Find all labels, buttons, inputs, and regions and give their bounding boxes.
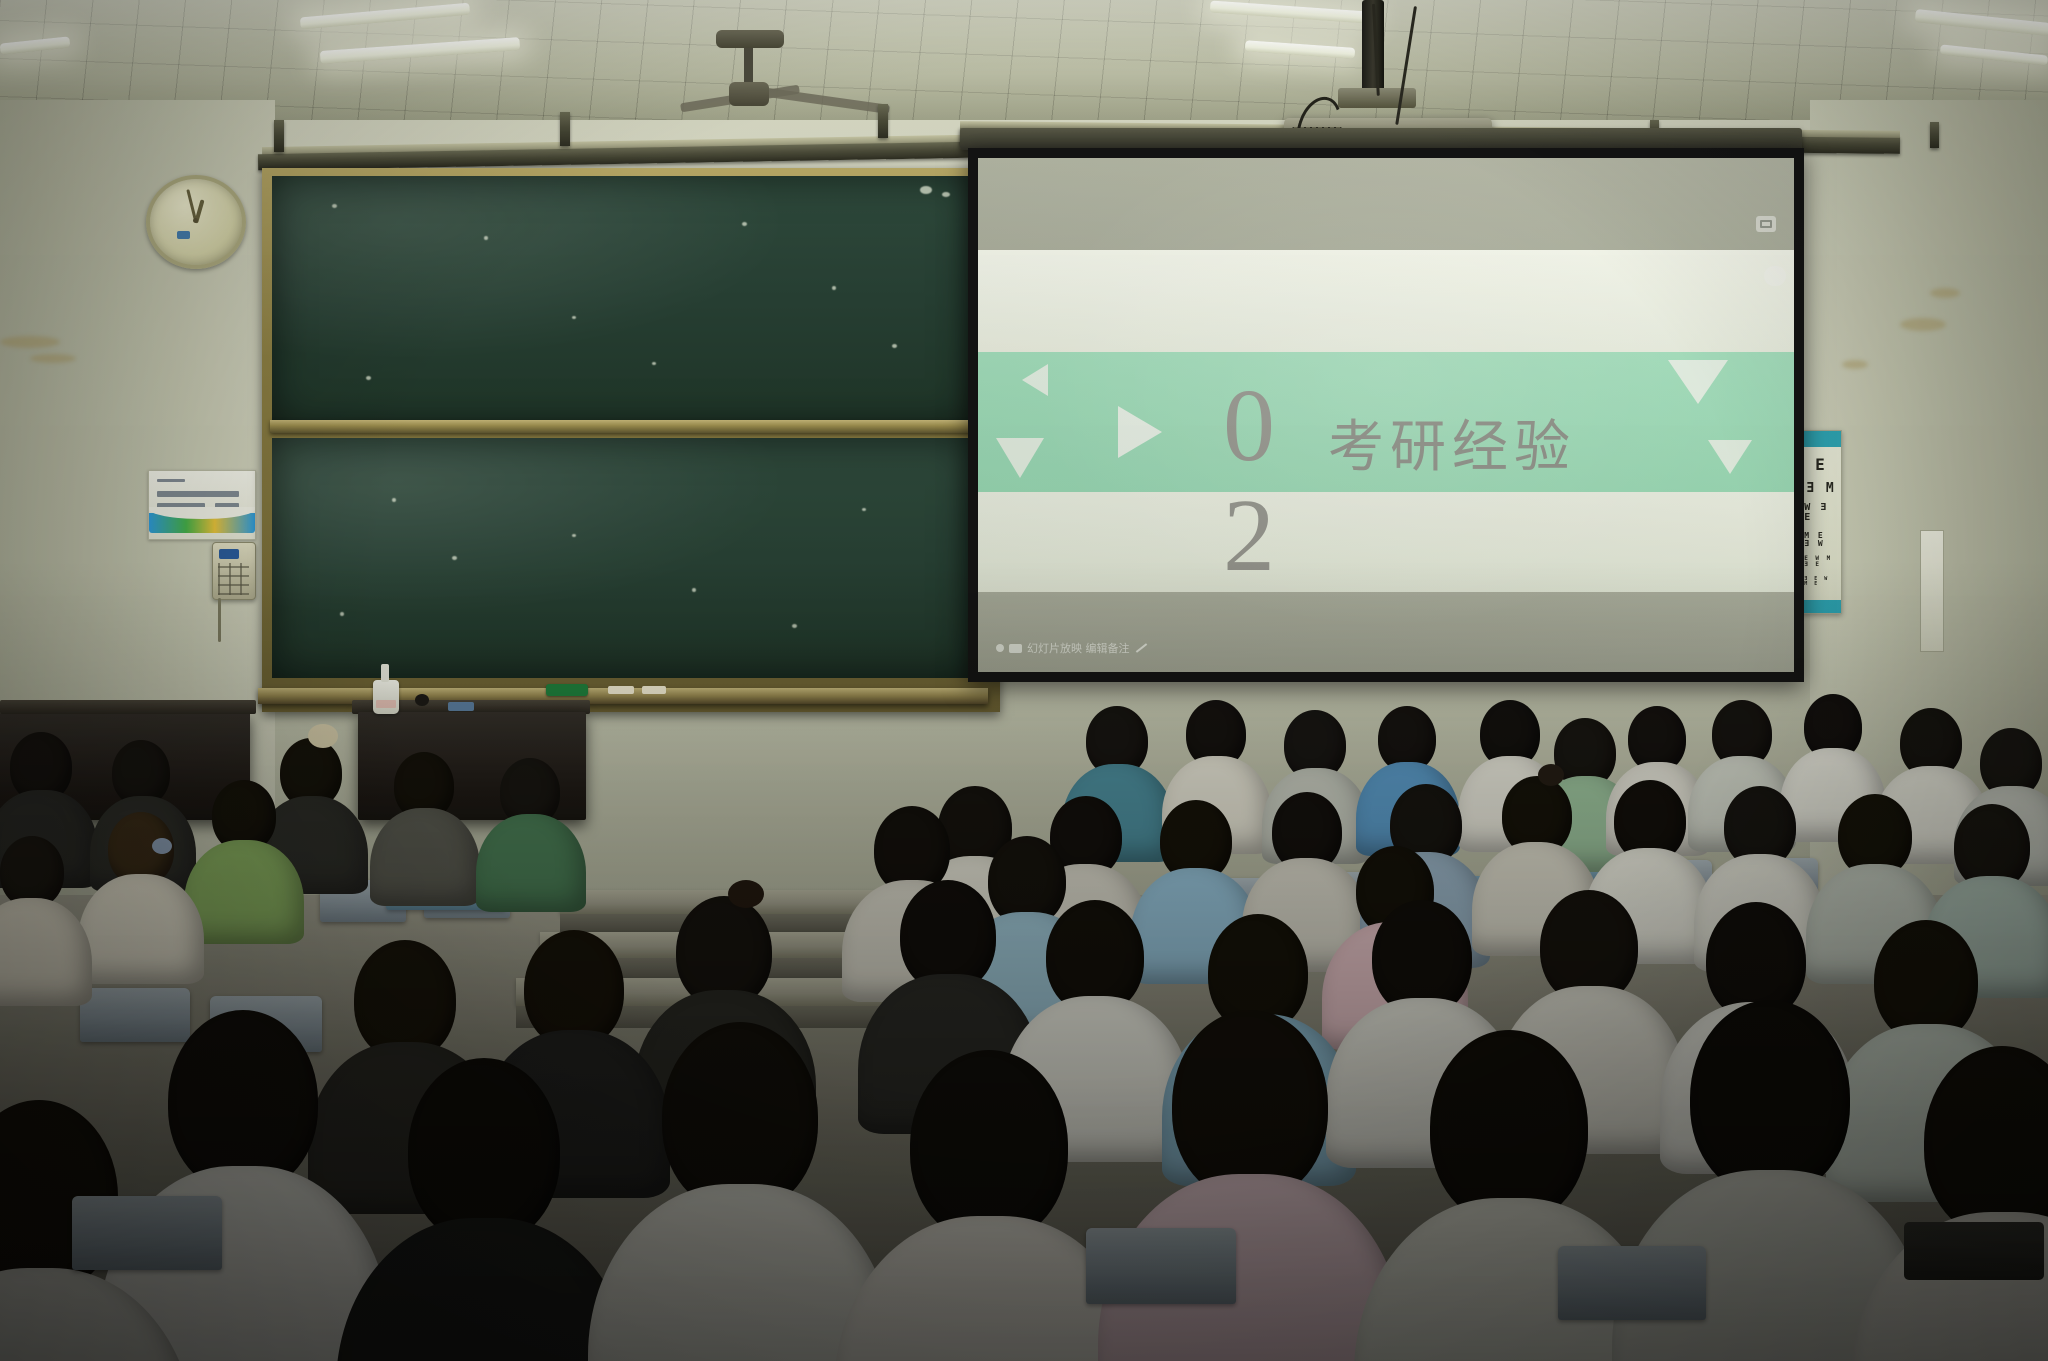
eye-chart-rows: E Ǝ M W Ǝ E M E Ǝ W E W M Ǝ E Ǝ E W M E xyxy=(1804,453,1838,591)
seat[interactable] xyxy=(80,988,190,1042)
phone-display xyxy=(219,549,239,559)
head xyxy=(1430,1030,1588,1224)
hair-bun xyxy=(728,880,764,908)
pen-icon[interactable] xyxy=(1135,643,1146,653)
eye-chart-row: W Ǝ E xyxy=(1804,503,1838,523)
triangle-left-icon xyxy=(1022,364,1048,396)
chalk-stick[interactable] xyxy=(642,686,666,694)
sanitizer-label xyxy=(376,700,397,708)
chalk-mark xyxy=(340,612,344,616)
clock-center-pin xyxy=(193,218,198,223)
torso xyxy=(78,874,204,984)
triangle-down-left-icon xyxy=(996,438,1044,478)
chalk-mark xyxy=(742,222,747,226)
hand-sanitizer-bottle[interactable] xyxy=(373,680,399,714)
slide-band-upper-white xyxy=(978,250,1794,352)
projection-screen-frame: 0 2 考研经验 幻灯片放映 编辑备注 xyxy=(968,148,1804,682)
projection-screen-surface: 0 2 考研经验 幻灯片放映 编辑备注 xyxy=(978,158,1794,672)
notice-line-1 xyxy=(157,479,185,482)
slide-footer-bar: 幻灯片放映 编辑备注 xyxy=(996,640,1148,656)
clock-logo xyxy=(177,231,190,239)
hair-bun xyxy=(1538,764,1564,786)
sanitizer-pump[interactable] xyxy=(381,664,389,682)
wall-telephone[interactable] xyxy=(212,542,256,600)
chalk-mark xyxy=(572,316,576,319)
eye-chart-row: Ǝ M xyxy=(1806,482,1835,495)
chalkboard-panel-upper xyxy=(272,176,972,426)
chalk-mark xyxy=(392,498,396,502)
chalk-mark xyxy=(332,204,337,208)
phone-keypad[interactable] xyxy=(218,563,249,594)
chalk-mark xyxy=(452,556,457,560)
lecture-hall-scene: E Ǝ M W Ǝ E M E Ǝ W E W M Ǝ E Ǝ E W M E xyxy=(0,0,2048,1361)
wall-stain-1 xyxy=(0,336,60,348)
phone-cord xyxy=(218,598,221,642)
eye-chart-row: E xyxy=(1815,457,1827,473)
blackboard-eraser[interactable] xyxy=(546,684,588,696)
wall-poster-right xyxy=(1920,530,1944,652)
eye-chart-header-band xyxy=(1801,431,1841,447)
chalk-mark xyxy=(484,236,488,240)
eye-chart-row: E W M Ǝ E xyxy=(1804,556,1838,568)
head xyxy=(910,1050,1068,1242)
eye-chart-poster: E Ǝ M W Ǝ E M E Ǝ W E W M Ǝ E Ǝ E W M E xyxy=(1800,430,1842,614)
slideshow-icon[interactable] xyxy=(1756,216,1776,232)
chalk-mark xyxy=(942,192,950,197)
seat[interactable] xyxy=(72,1196,222,1270)
chalkboard-center-divider xyxy=(270,420,974,433)
triangle-down-small-icon xyxy=(1708,440,1752,474)
head xyxy=(1690,1000,1850,1196)
wall-stain-3 xyxy=(1900,318,1946,331)
chalk-mark xyxy=(832,286,836,290)
chalk-stick[interactable] xyxy=(608,686,634,694)
head xyxy=(1172,1010,1328,1200)
notice-line-2 xyxy=(157,491,239,497)
slide-band-bottom-gray xyxy=(978,592,1794,672)
chalk-mark xyxy=(652,362,656,365)
eye-chart-row: Ǝ E W M E xyxy=(1804,577,1838,587)
wall-stain-4 xyxy=(1930,288,1960,298)
podium-side-top xyxy=(0,700,256,714)
notice-board xyxy=(148,470,256,540)
wall-stain-5 xyxy=(1842,360,1868,369)
chalk-mark xyxy=(572,534,576,537)
slide-section-number-bottom: 2 xyxy=(1214,488,1284,584)
footer-dot-icon xyxy=(996,644,1004,652)
podium-small-box[interactable] xyxy=(448,702,474,711)
chalk-mark xyxy=(920,186,932,194)
chalk-mark xyxy=(792,624,797,628)
triangle-right-icon xyxy=(1118,406,1162,458)
slide-band-top-gray xyxy=(978,158,1794,250)
ceiling-fan-mount xyxy=(716,30,784,48)
hair-bun xyxy=(308,724,338,748)
slide-title: 考研经验 xyxy=(1328,402,1576,483)
chalkboard-panel-lower xyxy=(272,438,972,678)
chalkboard xyxy=(262,168,1000,712)
head xyxy=(408,1058,560,1244)
slide-nav-pill[interactable] xyxy=(1764,266,1786,286)
ceiling-fan-motor xyxy=(729,82,769,106)
hair-tie xyxy=(152,838,172,854)
seat[interactable] xyxy=(1086,1228,1236,1304)
slide-section-number-top: 0 xyxy=(1214,378,1284,474)
chalk-mark xyxy=(366,376,371,380)
eye-chart-footer-band xyxy=(1801,600,1841,613)
seat[interactable] xyxy=(1558,1246,1706,1320)
torso xyxy=(370,808,480,906)
projection-screen-housing xyxy=(960,128,1802,150)
head xyxy=(168,1010,318,1192)
podium-marker[interactable] xyxy=(415,694,429,706)
presentation-slide: 0 2 考研经验 幻灯片放映 编辑备注 xyxy=(978,158,1794,672)
triangle-down-icon xyxy=(1668,360,1728,404)
seat-back[interactable] xyxy=(1904,1222,2044,1280)
eye-chart-row: M E Ǝ W xyxy=(1804,532,1838,548)
chalk-mark xyxy=(862,508,866,511)
rail-bracket-5 xyxy=(1930,122,1939,148)
chalk-mark xyxy=(692,588,696,592)
wall-clock xyxy=(146,175,246,269)
notice-wave-graphic xyxy=(149,513,255,533)
slide-footer-text: 幻灯片放映 编辑备注 xyxy=(1027,640,1130,656)
rail-bracket-3 xyxy=(878,104,888,138)
chalk-mark xyxy=(892,344,897,348)
torso xyxy=(476,814,586,912)
rail-bracket-1 xyxy=(274,120,284,152)
rail-bracket-2 xyxy=(560,112,570,146)
wall-stain-2 xyxy=(30,354,76,363)
slide-band-lower-white xyxy=(978,492,1794,592)
footer-slide-icon xyxy=(1009,644,1022,653)
